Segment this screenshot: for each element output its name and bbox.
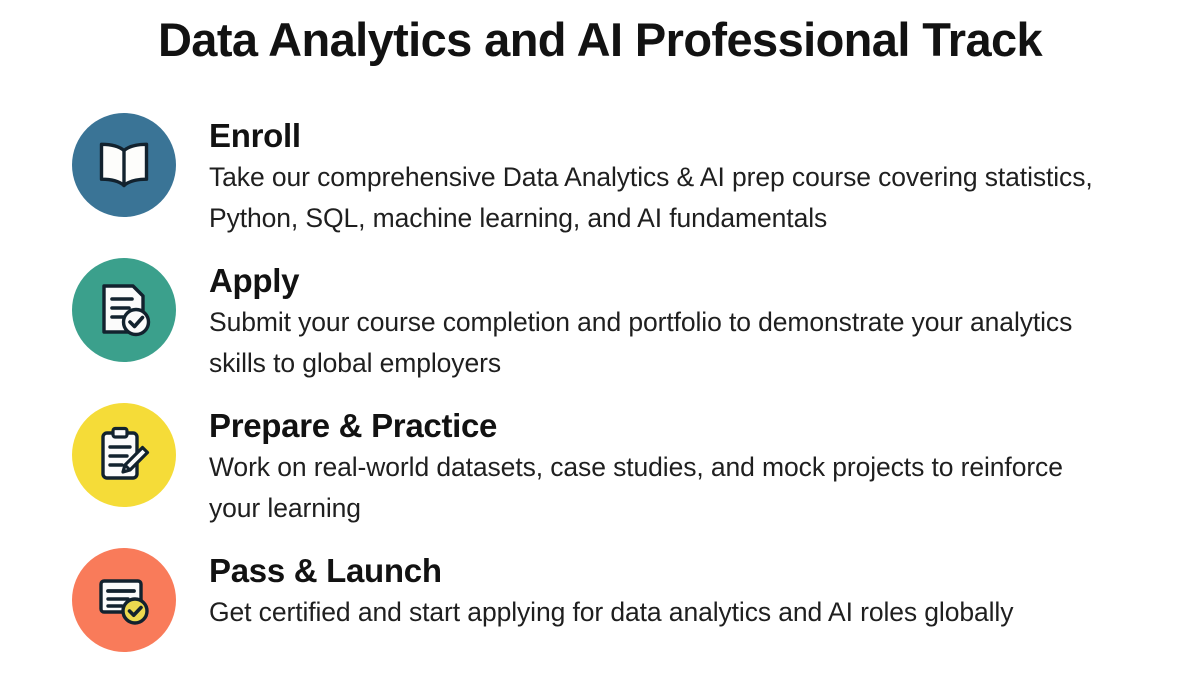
step-description: Take our comprehensive Data Analytics & …	[209, 157, 1109, 239]
step-text-enroll: Enroll Take our comprehensive Data Analy…	[209, 113, 1109, 239]
step-title: Enroll	[209, 116, 1109, 156]
list-item: Pass & Launch Get certified and start ap…	[0, 548, 1200, 693]
step-description: Get certified and start applying for dat…	[209, 592, 1109, 633]
list-item: Apply Submit your course completion and …	[0, 258, 1200, 403]
step-title: Apply	[209, 261, 1109, 301]
step-text-prepare: Prepare & Practice Work on real-world da…	[209, 403, 1109, 529]
step-icon-circle-enroll	[72, 113, 176, 217]
step-title: Prepare & Practice	[209, 406, 1109, 446]
list-item: Enroll Take our comprehensive Data Analy…	[0, 113, 1200, 258]
step-icon-circle-apply	[72, 258, 176, 362]
steps-list: Enroll Take our comprehensive Data Analy…	[0, 113, 1200, 693]
document-check-icon	[97, 282, 151, 338]
certificate-check-icon	[95, 575, 153, 625]
step-description: Submit your course completion and portfo…	[209, 302, 1109, 384]
open-book-icon	[95, 140, 153, 190]
step-description: Work on real-world datasets, case studie…	[209, 447, 1109, 529]
infographic-page: Data Analytics and AI Professional Track…	[0, 0, 1200, 689]
step-icon-circle-pass	[72, 548, 176, 652]
list-item: Prepare & Practice Work on real-world da…	[0, 403, 1200, 548]
page-title: Data Analytics and AI Professional Track	[0, 8, 1200, 72]
step-text-pass: Pass & Launch Get certified and start ap…	[209, 548, 1109, 633]
clipboard-pencil-icon	[96, 426, 152, 484]
step-icon-circle-prepare	[72, 403, 176, 507]
step-title: Pass & Launch	[209, 551, 1109, 591]
step-text-apply: Apply Submit your course completion and …	[209, 258, 1109, 384]
